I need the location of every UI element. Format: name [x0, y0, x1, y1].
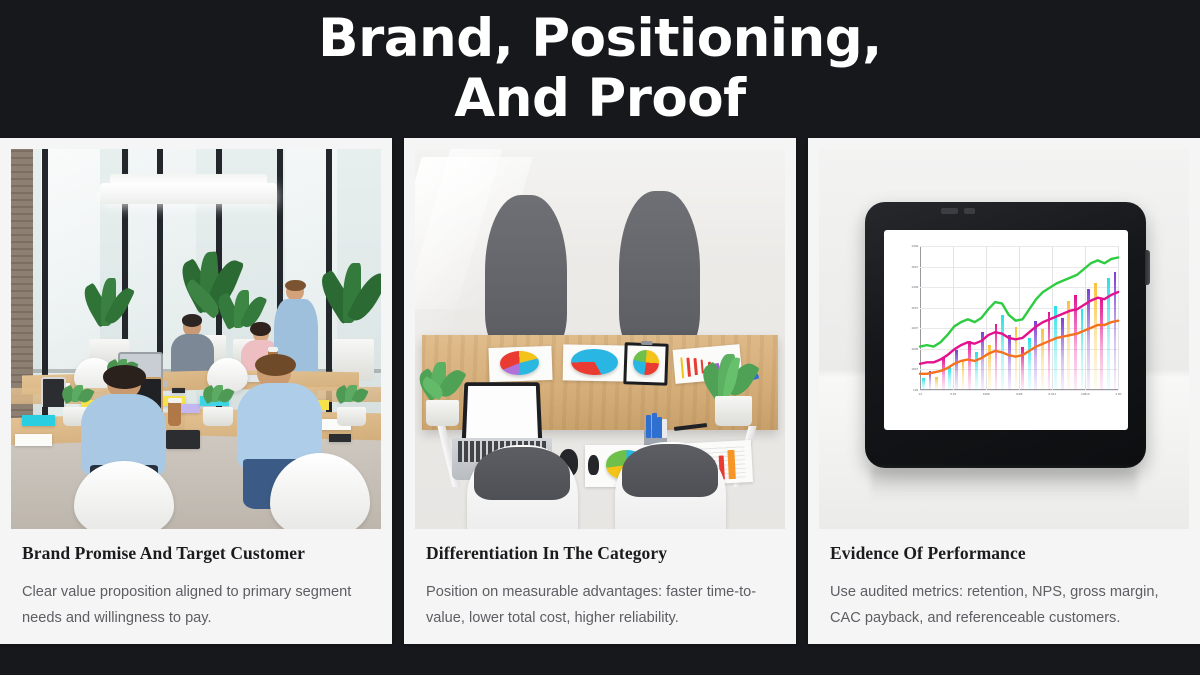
- card-image-tablet-chart: 1309150713091507190719091907129145.93190…: [819, 149, 1189, 529]
- tablet-screen: 1309150713091507190719091907129145.93190…: [884, 230, 1129, 430]
- card-evidence-of-performance[interactable]: 1309150713091507190719091907129145.93190…: [808, 138, 1200, 644]
- chart-x-tick-label: 84/8: [1016, 390, 1022, 396]
- cards-row: Brand Promise And Target Customer Clear …: [0, 138, 1200, 644]
- chart-x-tick-label: 4.00: [1115, 390, 1121, 396]
- chart-y-tick-label: 1907: [911, 326, 920, 330]
- chart-lines: [920, 246, 1118, 390]
- chart-y-tick-label: 1507: [911, 265, 920, 269]
- card-brand-promise[interactable]: Brand Promise And Target Customer Clear …: [0, 138, 392, 644]
- card-body: Differentiation In The Category Position…: [415, 529, 785, 632]
- chart-line-series-orange: [920, 321, 1118, 374]
- page-title: Brand, Positioning, And Proof: [318, 9, 882, 129]
- chart-gridline-vertical: [1118, 246, 1119, 390]
- card-differentiation[interactable]: Differentiation In The Category Position…: [404, 138, 796, 644]
- card-description: Clear value proposition aligned to prima…: [22, 580, 370, 632]
- card-heading: Differentiation In The Category: [426, 543, 774, 564]
- card-body: Brand Promise And Target Customer Clear …: [11, 529, 381, 632]
- card-description: Use audited metrics: retention, NPS, gro…: [830, 580, 1178, 632]
- card-heading: Evidence Of Performance: [830, 543, 1178, 564]
- chart-y-tick-label: 1907: [911, 367, 920, 371]
- chart-x-tick-label: 8.011: [1049, 390, 1057, 396]
- card-body: Evidence Of Performance Use audited metr…: [819, 529, 1189, 632]
- chart-y-tick-label: 1309: [911, 285, 920, 289]
- card-image-charts-on-table: [415, 149, 785, 529]
- page-title-line-2: And Proof: [454, 68, 746, 129]
- chart-x-tick-label: 10810: [1081, 390, 1090, 396]
- chart-x-tick-label: 14: [918, 390, 921, 396]
- chart-x-tick-label: 5.93: [950, 390, 956, 396]
- tablet-device: 1309150713091507190719091907129145.93190…: [865, 202, 1146, 468]
- chart-x-tick-label: 1908: [983, 390, 990, 396]
- growth-chart: 1309150713091507190719091907129145.93190…: [920, 246, 1118, 390]
- card-image-office-meeting: [11, 149, 381, 529]
- chart-y-tick-label: 1309: [911, 244, 920, 248]
- chart-y-tick-label: 1507: [911, 306, 920, 310]
- chart-y-tick-label: 1909: [911, 347, 920, 351]
- card-heading: Brand Promise And Target Customer: [22, 543, 370, 564]
- page-title-line-1: Brand, Positioning,: [318, 8, 882, 69]
- slide-header: Brand, Positioning, And Proof: [0, 0, 1200, 138]
- card-description: Position on measurable advantages: faste…: [426, 580, 774, 632]
